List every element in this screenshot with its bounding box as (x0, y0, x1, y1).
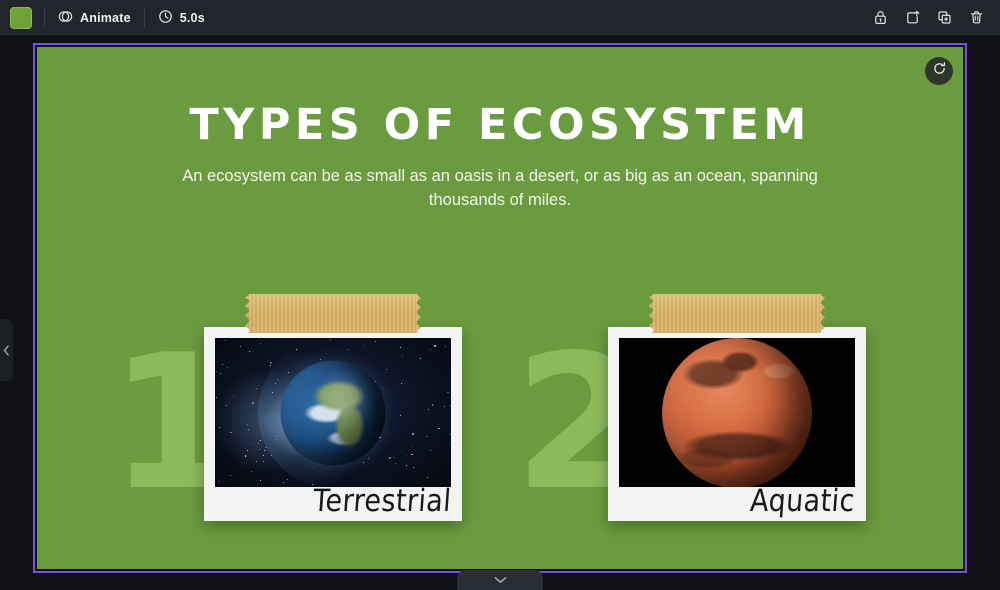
duplicate-button[interactable] (930, 4, 958, 32)
mars-planet-photo (619, 338, 855, 487)
top-toolbar: Animate 5.0s (0, 0, 1000, 36)
clock-icon (158, 9, 173, 27)
canvas-stage: TYPES OF ECOSYSTEM An ecosystem can be a… (0, 36, 1000, 590)
lock-button[interactable] (866, 4, 894, 32)
polaroid-frame-2: Aquatic (608, 327, 866, 521)
export-button[interactable] (898, 4, 926, 32)
earth-globe (281, 360, 386, 465)
export-icon (904, 9, 921, 26)
delete-button[interactable] (962, 4, 990, 32)
chevron-down-icon (494, 571, 507, 589)
toolbar-left-group: Animate 5.0s (0, 0, 214, 35)
chevron-left-icon (3, 345, 10, 356)
polaroid-frame: Terrestrial (204, 327, 462, 521)
toolbar-divider (44, 8, 45, 28)
polaroid-card-terrestrial[interactable]: Terrestrial (204, 294, 462, 521)
caption-aquatic: Aquatic (749, 484, 856, 519)
lock-icon (872, 9, 889, 26)
slide-subtitle: An ecosystem can be as small as an oasis… (170, 165, 830, 213)
slide-title: TYPES OF ECOSYSTEM (37, 104, 963, 147)
slide-background-color-swatch[interactable] (10, 7, 32, 29)
refresh-button[interactable] (925, 57, 953, 85)
slide-selection-frame[interactable]: TYPES OF ECOSYSTEM An ecosystem can be a… (33, 43, 967, 573)
caption-terrestrial: Terrestrial (312, 484, 452, 519)
washi-tape-icon-2 (653, 294, 821, 333)
animate-label: Animate (80, 11, 131, 25)
earth-planet-photo (215, 338, 451, 487)
bottom-panel-toggle[interactable] (457, 570, 543, 590)
mars-globe (662, 338, 812, 487)
presentation-editor: Animate 5.0s (0, 0, 1000, 590)
animate-button[interactable]: Animate (49, 5, 140, 31)
toolbar-divider-2 (144, 8, 145, 28)
trash-icon (968, 9, 985, 26)
slide-canvas[interactable]: TYPES OF ECOSYSTEM An ecosystem can be a… (37, 47, 963, 569)
left-panel-toggle[interactable] (0, 319, 13, 381)
refresh-icon (932, 61, 947, 81)
slide-duration-button[interactable]: 5.0s (149, 5, 214, 31)
duplicate-icon (936, 9, 953, 26)
toolbar-right-group (866, 4, 1000, 32)
washi-tape-icon (249, 294, 417, 333)
slide-duration-label: 5.0s (180, 11, 205, 25)
polaroid-card-aquatic[interactable]: Aquatic (608, 294, 866, 521)
animate-circles-icon (58, 9, 73, 27)
